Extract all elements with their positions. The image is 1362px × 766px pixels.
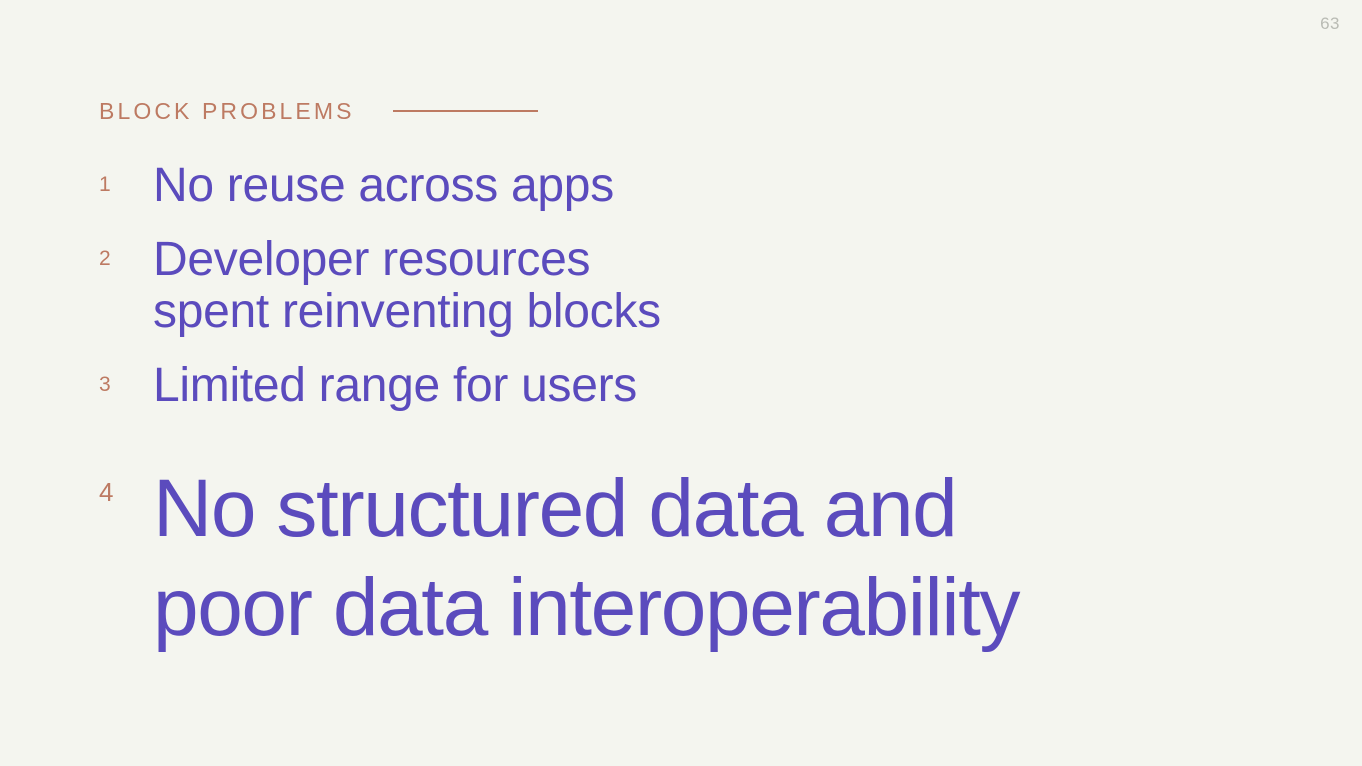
- list-item-number: 3: [99, 360, 153, 395]
- list-item-text: Developer resources spent reinventing bl…: [153, 234, 661, 338]
- section-header-label: BLOCK PROBLEMS: [99, 98, 355, 125]
- section-header: BLOCK PROBLEMS: [99, 96, 538, 126]
- header-divider-rule: [393, 110, 538, 112]
- list-item: 3 Limited range for users: [99, 360, 1299, 412]
- list-item-number: 1: [99, 160, 153, 195]
- problem-list: 1 No reuse across apps 2 Developer resou…: [99, 160, 1299, 657]
- list-item: 1 No reuse across apps: [99, 160, 1299, 212]
- list-item: 2 Developer resources spent reinventing …: [99, 234, 1299, 338]
- page-number: 63: [1320, 14, 1340, 34]
- list-item-text: No structured data and poor data interop…: [153, 460, 1019, 657]
- list-item-number: 2: [99, 234, 153, 269]
- list-item-number: 4: [99, 460, 153, 505]
- slide-canvas: 63 BLOCK PROBLEMS 1 No reuse across apps…: [0, 0, 1362, 766]
- list-item-text: Limited range for users: [153, 360, 637, 412]
- list-item-emphasized: 4 No structured data and poor data inter…: [99, 460, 1299, 657]
- list-item-text: No reuse across apps: [153, 160, 614, 212]
